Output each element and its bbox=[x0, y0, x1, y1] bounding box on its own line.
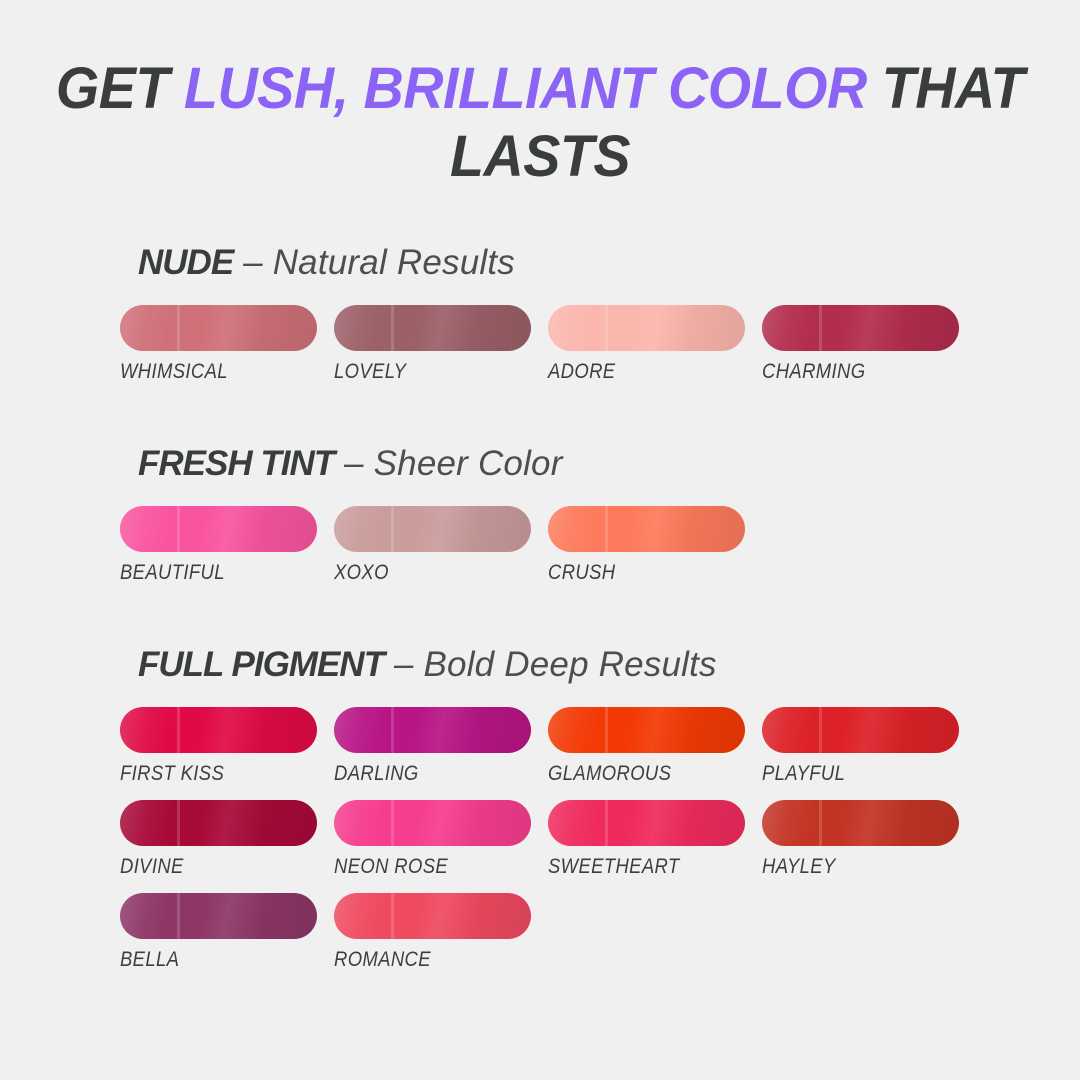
section-title-subtitle: – Bold Deep Results bbox=[384, 645, 717, 684]
shade-name-label: GLAMOROUS bbox=[548, 762, 736, 786]
shade-name-label: CRUSH bbox=[548, 561, 736, 585]
color-swatch[interactable] bbox=[762, 707, 959, 753]
color-swatch[interactable] bbox=[548, 305, 745, 351]
color-swatch[interactable] bbox=[334, 707, 531, 753]
section-title-subtitle: – Natural Results bbox=[233, 243, 515, 282]
lipstick-shade-chart: GET LUSH, BRILLIANT COLOR THAT LASTS NUD… bbox=[0, 0, 1080, 1080]
shade-name-label: FIRST KISS bbox=[120, 762, 308, 786]
headline-part-dark-1: GET bbox=[56, 56, 184, 121]
shade-name-label: HAYLEY bbox=[762, 855, 950, 879]
section-title-bold: FULL PIGMENT bbox=[138, 645, 384, 684]
section-title: NUDE – Natural Results bbox=[138, 243, 1080, 283]
shade-section-full-pigment: FULL PIGMENT – Bold Deep ResultsFIRST KI… bbox=[0, 645, 1080, 986]
shade-cell[interactable]: HAYLEY bbox=[762, 800, 976, 879]
shade-cell[interactable]: SWEETHEART bbox=[548, 800, 762, 879]
color-swatch[interactable] bbox=[548, 800, 745, 846]
shade-name-label: ADORE bbox=[548, 360, 736, 384]
shade-name-label: ROMANCE bbox=[334, 948, 522, 972]
color-swatch[interactable] bbox=[762, 305, 959, 351]
shade-cell[interactable]: ADORE bbox=[548, 305, 762, 384]
swatch-rows: BEAUTIFULXOXOCRUSH bbox=[0, 506, 1080, 585]
swatch-row: WHIMSICALLOVELYADORECHARMING bbox=[120, 305, 1080, 384]
section-title-subtitle: – Sheer Color bbox=[334, 444, 562, 483]
shade-cell[interactable]: LOVELY bbox=[334, 305, 548, 384]
section-title: FULL PIGMENT – Bold Deep Results bbox=[138, 645, 1080, 685]
shade-cell[interactable]: PLAYFUL bbox=[762, 707, 976, 786]
shade-name-label: PLAYFUL bbox=[762, 762, 950, 786]
color-swatch[interactable] bbox=[334, 305, 531, 351]
color-swatch[interactable] bbox=[334, 800, 531, 846]
section-title-bold: NUDE bbox=[138, 243, 233, 282]
page-title: GET LUSH, BRILLIANT COLOR THAT LASTS bbox=[22, 55, 1059, 191]
shade-cell[interactable]: CHARMING bbox=[762, 305, 976, 384]
shade-cell[interactable]: XOXO bbox=[334, 506, 548, 585]
color-swatch[interactable] bbox=[548, 707, 745, 753]
shade-name-label: CHARMING bbox=[762, 360, 950, 384]
shade-name-label: NEON ROSE bbox=[334, 855, 522, 879]
color-swatch[interactable] bbox=[120, 707, 317, 753]
shade-cell[interactable]: GLAMOROUS bbox=[548, 707, 762, 786]
shade-cell[interactable]: DIVINE bbox=[120, 800, 334, 879]
color-swatch[interactable] bbox=[120, 893, 317, 939]
shade-section-fresh-tint: FRESH TINT – Sheer ColorBEAUTIFULXOXOCRU… bbox=[0, 444, 1080, 599]
shade-cell[interactable]: BELLA bbox=[120, 893, 334, 972]
shade-cell[interactable]: WHIMSICAL bbox=[120, 305, 334, 384]
headline-part-accent: LUSH, BRILLIANT COLOR bbox=[184, 56, 882, 121]
shade-cell[interactable]: ROMANCE bbox=[334, 893, 548, 972]
color-swatch[interactable] bbox=[334, 893, 531, 939]
swatch-row: DIVINENEON ROSESWEETHEARTHAYLEY bbox=[120, 800, 1080, 879]
color-swatch[interactable] bbox=[120, 305, 317, 351]
shade-name-label: SWEETHEART bbox=[548, 855, 736, 879]
shade-name-label: WHIMSICAL bbox=[120, 360, 308, 384]
swatch-row: BELLAROMANCE bbox=[120, 893, 1080, 972]
shade-name-label: DARLING bbox=[334, 762, 522, 786]
shade-name-label: XOXO bbox=[334, 561, 522, 585]
shade-name-label: BEAUTIFUL bbox=[120, 561, 308, 585]
shade-cell[interactable]: CRUSH bbox=[548, 506, 762, 585]
section-title-bold: FRESH TINT bbox=[138, 444, 334, 483]
swatch-rows: FIRST KISSDARLINGGLAMOROUSPLAYFULDIVINEN… bbox=[0, 707, 1080, 972]
color-swatch[interactable] bbox=[120, 506, 317, 552]
swatch-row: BEAUTIFULXOXOCRUSH bbox=[120, 506, 1080, 585]
section-title: FRESH TINT – Sheer Color bbox=[138, 444, 1080, 484]
swatch-rows: WHIMSICALLOVELYADORECHARMING bbox=[0, 305, 1080, 384]
shade-cell[interactable]: FIRST KISS bbox=[120, 707, 334, 786]
color-swatch[interactable] bbox=[548, 506, 745, 552]
shade-name-label: BELLA bbox=[120, 948, 308, 972]
shade-name-label: LOVELY bbox=[334, 360, 522, 384]
shade-name-label: DIVINE bbox=[120, 855, 308, 879]
color-swatch[interactable] bbox=[762, 800, 959, 846]
color-swatch[interactable] bbox=[334, 506, 531, 552]
shade-section-nude: NUDE – Natural ResultsWHIMSICALLOVELYADO… bbox=[0, 243, 1080, 398]
color-swatch[interactable] bbox=[120, 800, 317, 846]
shade-cell[interactable]: NEON ROSE bbox=[334, 800, 548, 879]
swatch-row: FIRST KISSDARLINGGLAMOROUSPLAYFUL bbox=[120, 707, 1080, 786]
shade-cell[interactable]: DARLING bbox=[334, 707, 548, 786]
shade-cell[interactable]: BEAUTIFUL bbox=[120, 506, 334, 585]
